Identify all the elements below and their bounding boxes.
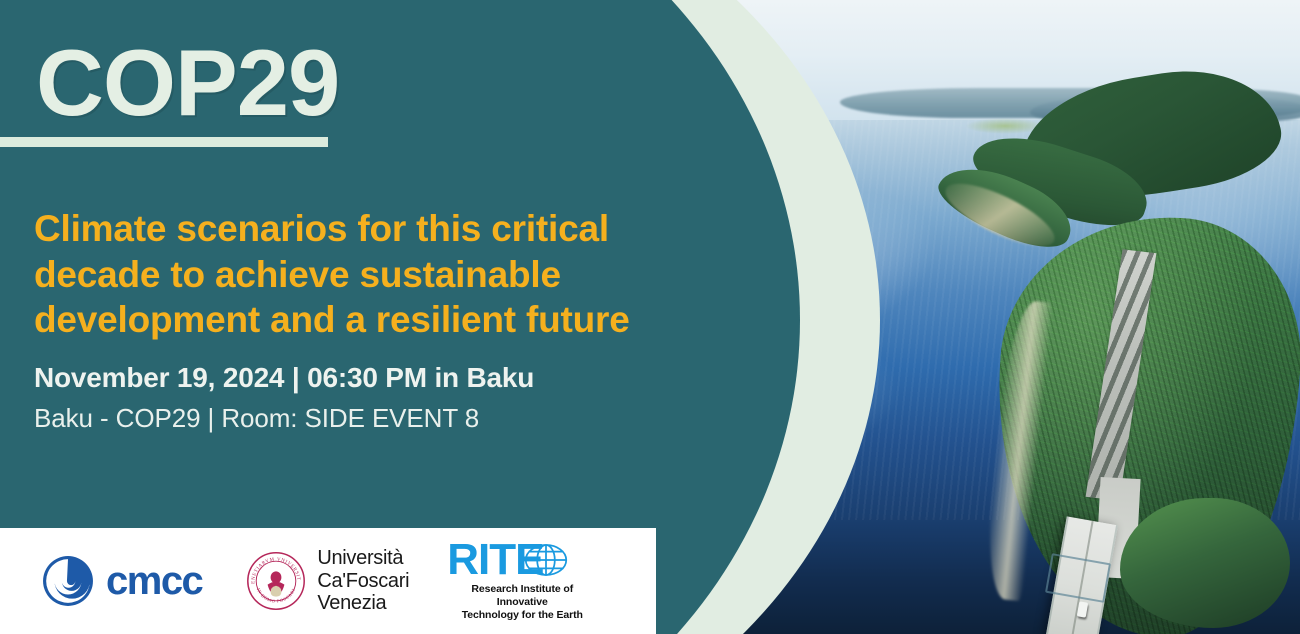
rite-tagline: Research Institute of Innovative Technol… [447, 583, 597, 622]
cafoscari-line-3: Venezia [317, 592, 409, 614]
cafoscari-wordmark: Università Ca'Foscari Venezia [317, 547, 409, 614]
page-title: COP29 [36, 36, 339, 130]
rite-tagline-line-1: Research Institute of Innovative [447, 583, 597, 609]
event-venue-room: Baku - COP29 | Room: SIDE EVENT 8 [34, 403, 479, 434]
cmcc-wordmark: cmcc [106, 561, 202, 601]
logo-cafoscari: VENETIARVM VNIVERSITAS IN DOMO FOSCARI U… [246, 547, 409, 614]
event-headline: Climate scenarios for this critical deca… [34, 206, 654, 343]
cafoscari-line-2: Ca'Foscari [317, 570, 409, 592]
rite-globe-icon [524, 541, 568, 579]
logo-cmcc: cmcc [42, 555, 202, 607]
cop29-event-banner: COP29 Climate scenarios for this critica… [0, 0, 1300, 634]
island-lower-right-lobe [1120, 498, 1290, 628]
rite-tagline-line-2: Technology for the Earth [447, 609, 597, 622]
partner-logo-bar: cmcc VENETIARVM VNIVERSITAS [0, 528, 656, 634]
cafoscari-seal-icon: VENETIARVM VNIVERSITAS IN DOMO FOSCARI [246, 551, 306, 611]
cafoscari-line-1: Università [317, 547, 409, 569]
cmcc-spiral-icon [42, 555, 94, 607]
event-date-time: November 19, 2024 | 06:30 PM in Baku [34, 362, 534, 394]
logo-rite: RITE Research Institute of Innovative Te… [447, 540, 597, 622]
title-underline-rule [0, 137, 328, 147]
